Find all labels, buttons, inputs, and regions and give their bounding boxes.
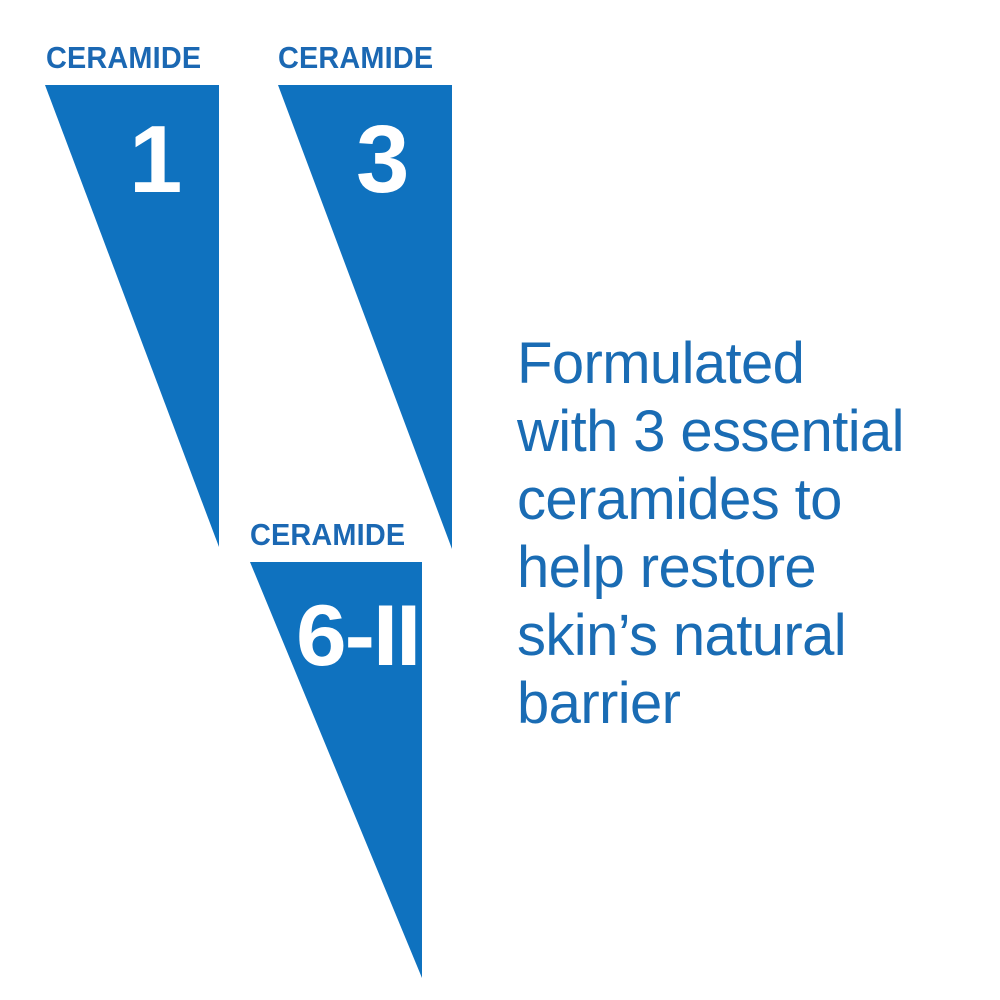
ceramide-badge-1-label: CERAMIDE [46,42,201,73]
ceramide-badge-3-number: 3 [356,112,408,208]
ceramide-infographic: CERAMIDE 1 CERAMIDE 3 CERAMIDE 6-II Form… [0,0,1000,1000]
tagline-line: Formulated [517,330,957,398]
tagline-line: barrier [517,670,957,738]
tagline-text: Formulated with 3 essential ceramides to… [517,330,957,738]
tagline-line: skin’s natural [517,602,957,670]
tagline-line: help restore [517,534,957,602]
tagline-line: ceramides to [517,466,957,534]
ceramide-badge-1-number: 1 [129,112,181,208]
ceramide-badge-6-ii-label: CERAMIDE [250,519,405,550]
ceramide-badge-3-label: CERAMIDE [278,42,433,73]
ceramide-badge-6-ii-number: 6-II [296,593,419,679]
tagline-line: with 3 essential [517,398,957,466]
